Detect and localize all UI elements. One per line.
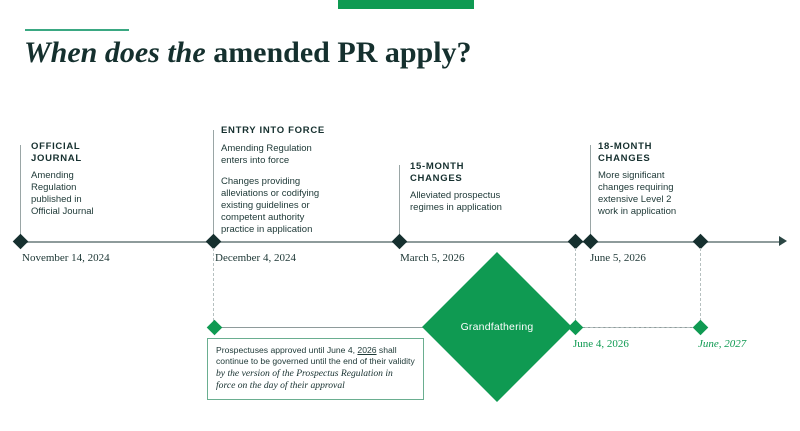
drop-line-entry-into-force (213, 248, 214, 326)
milestone-heading: ENTRY INTO FORCE (221, 125, 333, 137)
page-title-regular: amended PR apply? (206, 36, 472, 69)
marker-grandfathering-end (693, 234, 709, 250)
note-line-2: continue to be governed until the end of… (216, 356, 415, 367)
top-accent-bar (338, 0, 474, 9)
note-line-1-underlined: 2026 (357, 345, 376, 355)
timeline-arrow-icon (779, 236, 787, 246)
drop-line-june-2027 (700, 248, 701, 326)
milestone-entry-into-force: ENTRY INTO FORCE Amending Regulation ent… (221, 125, 333, 236)
marker-entry-into-force (206, 234, 222, 250)
connector-line-entry-into-force (213, 130, 214, 242)
note-line-3: by the version of the Prospectus Regulat… (216, 368, 415, 380)
milestone-body-1: Amending Regulation enters into force (221, 143, 333, 167)
date-label-official-journal: November 14, 2024 (22, 252, 110, 265)
note-line-1-pre: Prospectuses approved until June 4, (216, 345, 357, 355)
milestone-official-journal: OFFICIAL JOURNAL Amending Regulation pub… (31, 141, 109, 218)
grandfathering-line-dashed (580, 327, 700, 328)
milestone-body: More significant changes requiring exten… (598, 170, 690, 218)
marker-grandfathering-start (568, 234, 584, 250)
note-line-1: Prospectuses approved until June 4, 2026… (216, 345, 415, 356)
date-label-15-month-changes: March 5, 2026 (400, 252, 464, 265)
marker-official-journal (13, 234, 29, 250)
date-label-entry-into-force: December 4, 2024 (215, 252, 296, 265)
connector-line-18-month (590, 145, 591, 242)
connector-line-15-month (399, 165, 400, 242)
date-label-june-2027: June, 2027 (698, 338, 746, 351)
marker-june-2027 (693, 320, 709, 336)
note-line-1-post: shall (377, 345, 397, 355)
page-title-italic: When does the (24, 36, 206, 69)
date-label-june-4-2026: June 4, 2026 (573, 338, 629, 351)
milestone-body-2: Changes providing alleviations or codify… (221, 176, 333, 236)
marker-15-month-changes (392, 234, 408, 250)
note-line-4: force on the day of their approval (216, 380, 415, 392)
drop-line-june-4-2026 (575, 248, 576, 326)
milestone-body: Amending Regulation published in Officia… (31, 170, 109, 218)
date-label-18-month-changes: June 5, 2026 (590, 252, 646, 265)
title-rule (25, 29, 129, 31)
milestone-heading: 15-MONTH CHANGES (410, 161, 514, 184)
grandfathering-note-box: Prospectuses approved until June 4, 2026… (207, 338, 424, 400)
milestone-heading: 18-MONTH CHANGES (598, 141, 690, 164)
page-title: When does the amended PR apply? (24, 36, 472, 70)
milestone-15-month-changes: 15-MONTH CHANGES Alleviated prospectus r… (410, 161, 514, 214)
grandfathering-label: Grandfathering (444, 274, 550, 380)
marker-grandfathering-line-start (207, 320, 223, 336)
connector-line-official-journal (20, 145, 21, 242)
milestone-body: Alleviated prospectus regimes in applica… (410, 190, 514, 214)
milestone-heading: OFFICIAL JOURNAL (31, 141, 109, 164)
milestone-18-month-changes: 18-MONTH CHANGES More significant change… (598, 141, 690, 218)
infographic-canvas: When does the amended PR apply? OFFICIAL… (0, 0, 800, 431)
marker-18-month-changes (583, 234, 599, 250)
